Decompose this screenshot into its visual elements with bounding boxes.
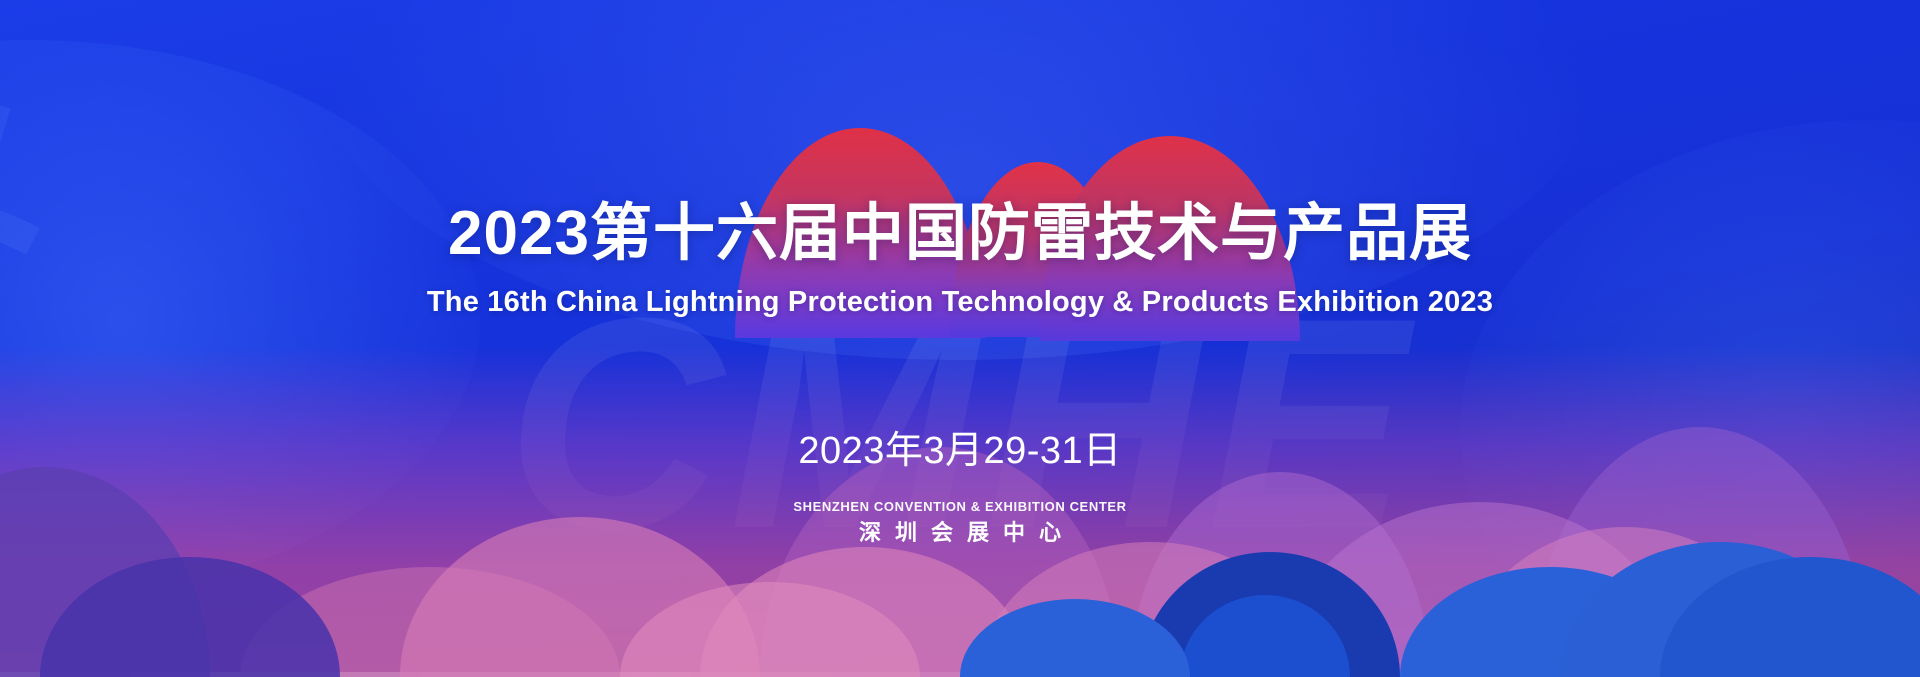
venue-block: SHENZHEN CONVENTION & EXHIBITION CENTER … [0, 500, 1920, 544]
venue-name-chinese: 深圳会展中心 [0, 522, 1920, 544]
event-date: 2023年3月29-31日 [0, 432, 1920, 470]
banner-content: 2023第十六届中国防雷技术与产品展 The 16th China Lightn… [0, 0, 1920, 677]
exhibition-banner: CMHE 2023第十六届中国防雷技术与产品展 The 16th China L… [0, 0, 1920, 677]
venue-name-english: SHENZHEN CONVENTION & EXHIBITION CENTER [0, 500, 1920, 513]
page-title-english: The 16th China Lightning Protection Tech… [0, 288, 1920, 317]
page-title-chinese: 2023第十六届中国防雷技术与产品展 [0, 203, 1920, 265]
